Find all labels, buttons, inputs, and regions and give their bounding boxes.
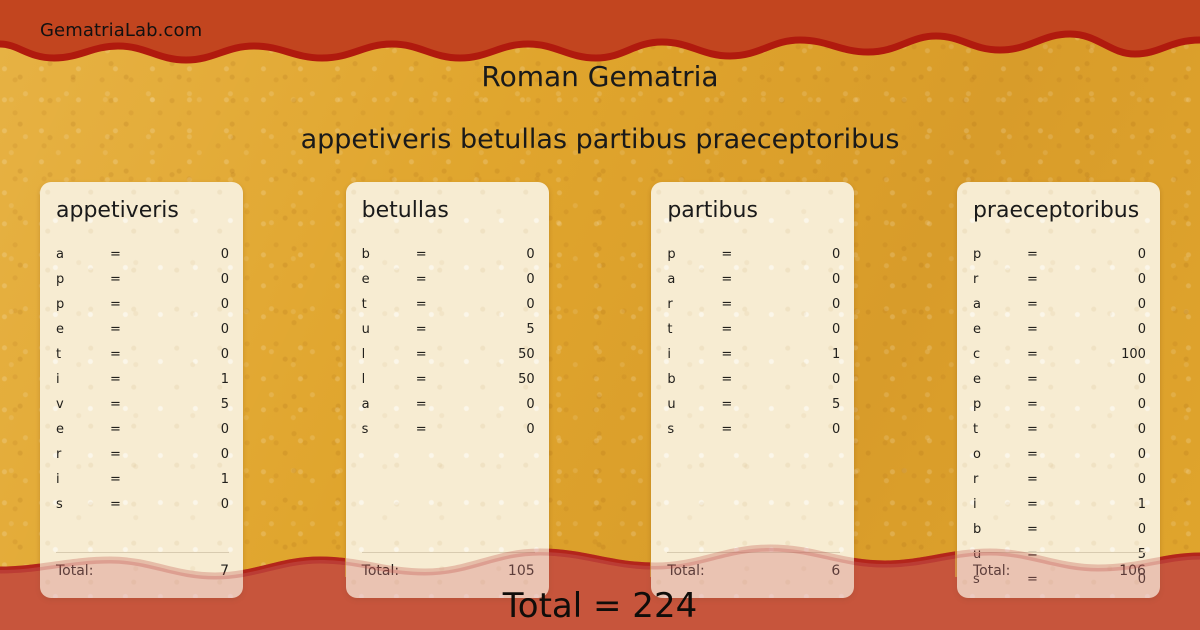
equals-sign: = (667, 292, 840, 317)
letter-value: 0 (221, 317, 229, 342)
card-divider (56, 552, 229, 553)
equals-sign: = (362, 367, 535, 392)
letter-row: b = 0 (362, 242, 535, 267)
card-total-value: 7 (220, 563, 229, 579)
letter-row: p = 0 (56, 292, 229, 317)
letter-value: 0 (1138, 417, 1146, 442)
grand-total: Total = 224 (0, 586, 1200, 626)
letter-value: 0 (832, 317, 840, 342)
letter-value: 0 (1138, 242, 1146, 267)
equals-sign: = (362, 342, 535, 367)
card-divider (667, 552, 840, 553)
word-card: betullas b = 0 e = 0 t = 0 u (346, 182, 549, 598)
equals-sign: = (56, 492, 229, 517)
card-total-label: Total: (56, 563, 93, 579)
word-card: partibus p = 0 a = 0 r = 0 t (651, 182, 854, 598)
letter-row: e = 0 (362, 267, 535, 292)
letter-row: b = 0 (973, 517, 1146, 542)
equals-sign: = (667, 417, 840, 442)
letter-row: a = 0 (667, 267, 840, 292)
letter-value: 0 (221, 242, 229, 267)
letter-value: 1 (832, 342, 840, 367)
letter-row: b = 0 (667, 367, 840, 392)
letter-value-rows: b = 0 e = 0 t = 0 u = 5 (362, 242, 535, 442)
letter-row: r = 0 (973, 467, 1146, 492)
letter-row: l = 50 (362, 342, 535, 367)
letter-row: u = 5 (362, 317, 535, 342)
letter-value: 0 (832, 367, 840, 392)
equals-sign: = (56, 242, 229, 267)
letter-value: 100 (1121, 342, 1146, 367)
letter-value: 0 (526, 392, 534, 417)
letter-row: i = 1 (56, 367, 229, 392)
equals-sign: = (973, 492, 1146, 517)
equals-sign: = (973, 317, 1146, 342)
equals-sign: = (56, 417, 229, 442)
card-divider (973, 552, 1146, 553)
letter-value: 0 (1138, 317, 1146, 342)
card-word-title: appetiveris (56, 198, 233, 223)
card-total-label: Total: (362, 563, 399, 579)
equals-sign: = (973, 442, 1146, 467)
letter-value: 0 (832, 417, 840, 442)
letter-value-rows: p = 0 r = 0 a = 0 e = 0 (973, 242, 1146, 592)
letter-row: a = 0 (362, 392, 535, 417)
card-total-value: 106 (1119, 563, 1146, 579)
letter-value: 1 (221, 467, 229, 492)
letter-value: 0 (1138, 292, 1146, 317)
letter-row: r = 0 (667, 292, 840, 317)
card-word-title: partibus (667, 198, 844, 223)
infographic-canvas: GematriaLab.com Roman Gematria appetiver… (0, 0, 1200, 630)
letter-row: u = 5 (667, 392, 840, 417)
equals-sign: = (667, 392, 840, 417)
letter-row: p = 0 (973, 242, 1146, 267)
word-card-list: appetiveris a = 0 p = 0 p = 0 (40, 182, 1160, 598)
equals-sign: = (973, 342, 1146, 367)
letter-value: 0 (1138, 367, 1146, 392)
equals-sign: = (973, 242, 1146, 267)
equals-sign: = (973, 417, 1146, 442)
equals-sign: = (973, 392, 1146, 417)
equals-sign: = (362, 417, 535, 442)
letter-value: 1 (221, 367, 229, 392)
word-card: praeceptoribus p = 0 r = 0 a = 0 (957, 182, 1160, 598)
letter-value: 0 (221, 267, 229, 292)
letter-row: v = 5 (56, 392, 229, 417)
letter-row: i = 1 (56, 467, 229, 492)
letter-row: a = 0 (56, 242, 229, 267)
letter-value: 0 (221, 442, 229, 467)
equals-sign: = (667, 342, 840, 367)
letter-row: s = 0 (56, 492, 229, 517)
page-title: Roman Gematria (0, 60, 1200, 93)
card-total-value: 105 (508, 563, 535, 579)
letter-row: t = 0 (362, 292, 535, 317)
site-name: GematriaLab.com (40, 20, 202, 41)
letter-value: 5 (221, 392, 229, 417)
letter-value: 0 (1138, 467, 1146, 492)
letter-value-rows: p = 0 a = 0 r = 0 t = 0 (667, 242, 840, 442)
equals-sign: = (56, 442, 229, 467)
equals-sign: = (973, 367, 1146, 392)
equals-sign: = (362, 292, 535, 317)
word-card: appetiveris a = 0 p = 0 p = 0 (40, 182, 243, 598)
letter-value: 0 (526, 292, 534, 317)
letter-row: o = 0 (973, 442, 1146, 467)
letter-value: 0 (221, 342, 229, 367)
letter-value: 0 (1138, 392, 1146, 417)
card-footer: Total: 7 (56, 552, 229, 586)
equals-sign: = (667, 367, 840, 392)
equals-sign: = (667, 317, 840, 342)
equals-sign: = (362, 242, 535, 267)
letter-row: r = 0 (56, 442, 229, 467)
phrase-text: appetiveris betullas partibus praeceptor… (0, 124, 1200, 155)
equals-sign: = (362, 392, 535, 417)
letter-value: 0 (221, 417, 229, 442)
letter-row: e = 0 (56, 417, 229, 442)
letter-row: e = 0 (973, 367, 1146, 392)
equals-sign: = (973, 292, 1146, 317)
equals-sign: = (973, 467, 1146, 492)
card-total-value: 6 (831, 563, 840, 579)
card-divider (362, 552, 535, 553)
equals-sign: = (973, 517, 1146, 542)
equals-sign: = (56, 292, 229, 317)
letter-row: e = 0 (56, 317, 229, 342)
letter-value: 0 (832, 242, 840, 267)
equals-sign: = (56, 467, 229, 492)
letter-row: c = 100 (973, 342, 1146, 367)
letter-value: 0 (1138, 517, 1146, 542)
letter-row: r = 0 (973, 267, 1146, 292)
equals-sign: = (56, 267, 229, 292)
letter-row: e = 0 (973, 317, 1146, 342)
letter-row: s = 0 (667, 417, 840, 442)
letter-value-rows: a = 0 p = 0 p = 0 e = 0 (56, 242, 229, 517)
letter-value: 0 (526, 242, 534, 267)
letter-value: 0 (221, 492, 229, 517)
equals-sign: = (56, 367, 229, 392)
card-footer: Total: 106 (973, 552, 1146, 586)
letter-row: p = 0 (56, 267, 229, 292)
letter-value: 0 (221, 292, 229, 317)
letter-value: 1 (1138, 492, 1146, 517)
letter-value: 0 (1138, 442, 1146, 467)
letter-row: t = 0 (973, 417, 1146, 442)
letter-row: p = 0 (667, 242, 840, 267)
letter-value: 0 (832, 292, 840, 317)
card-total-label: Total: (667, 563, 704, 579)
equals-sign: = (56, 342, 229, 367)
letter-value: 0 (526, 417, 534, 442)
card-total-label: Total: (973, 563, 1010, 579)
equals-sign: = (362, 317, 535, 342)
letter-value: 50 (518, 367, 535, 392)
card-footer: Total: 6 (667, 552, 840, 586)
equals-sign: = (667, 242, 840, 267)
card-word-title: praeceptoribus (973, 198, 1150, 223)
letter-value: 5 (526, 317, 534, 342)
letter-row: s = 0 (362, 417, 535, 442)
letter-value: 5 (832, 392, 840, 417)
card-word-title: betullas (362, 198, 539, 223)
letter-row: i = 1 (667, 342, 840, 367)
letter-value: 0 (832, 267, 840, 292)
equals-sign: = (667, 267, 840, 292)
letter-row: t = 0 (667, 317, 840, 342)
letter-value: 50 (518, 342, 535, 367)
letter-row: l = 50 (362, 367, 535, 392)
equals-sign: = (56, 392, 229, 417)
letter-row: p = 0 (973, 392, 1146, 417)
letter-row: i = 1 (973, 492, 1146, 517)
letter-value: 0 (1138, 267, 1146, 292)
equals-sign: = (362, 267, 535, 292)
equals-sign: = (56, 317, 229, 342)
letter-value: 0 (526, 267, 534, 292)
card-footer: Total: 105 (362, 552, 535, 586)
equals-sign: = (973, 267, 1146, 292)
letter-row: a = 0 (973, 292, 1146, 317)
letter-row: t = 0 (56, 342, 229, 367)
